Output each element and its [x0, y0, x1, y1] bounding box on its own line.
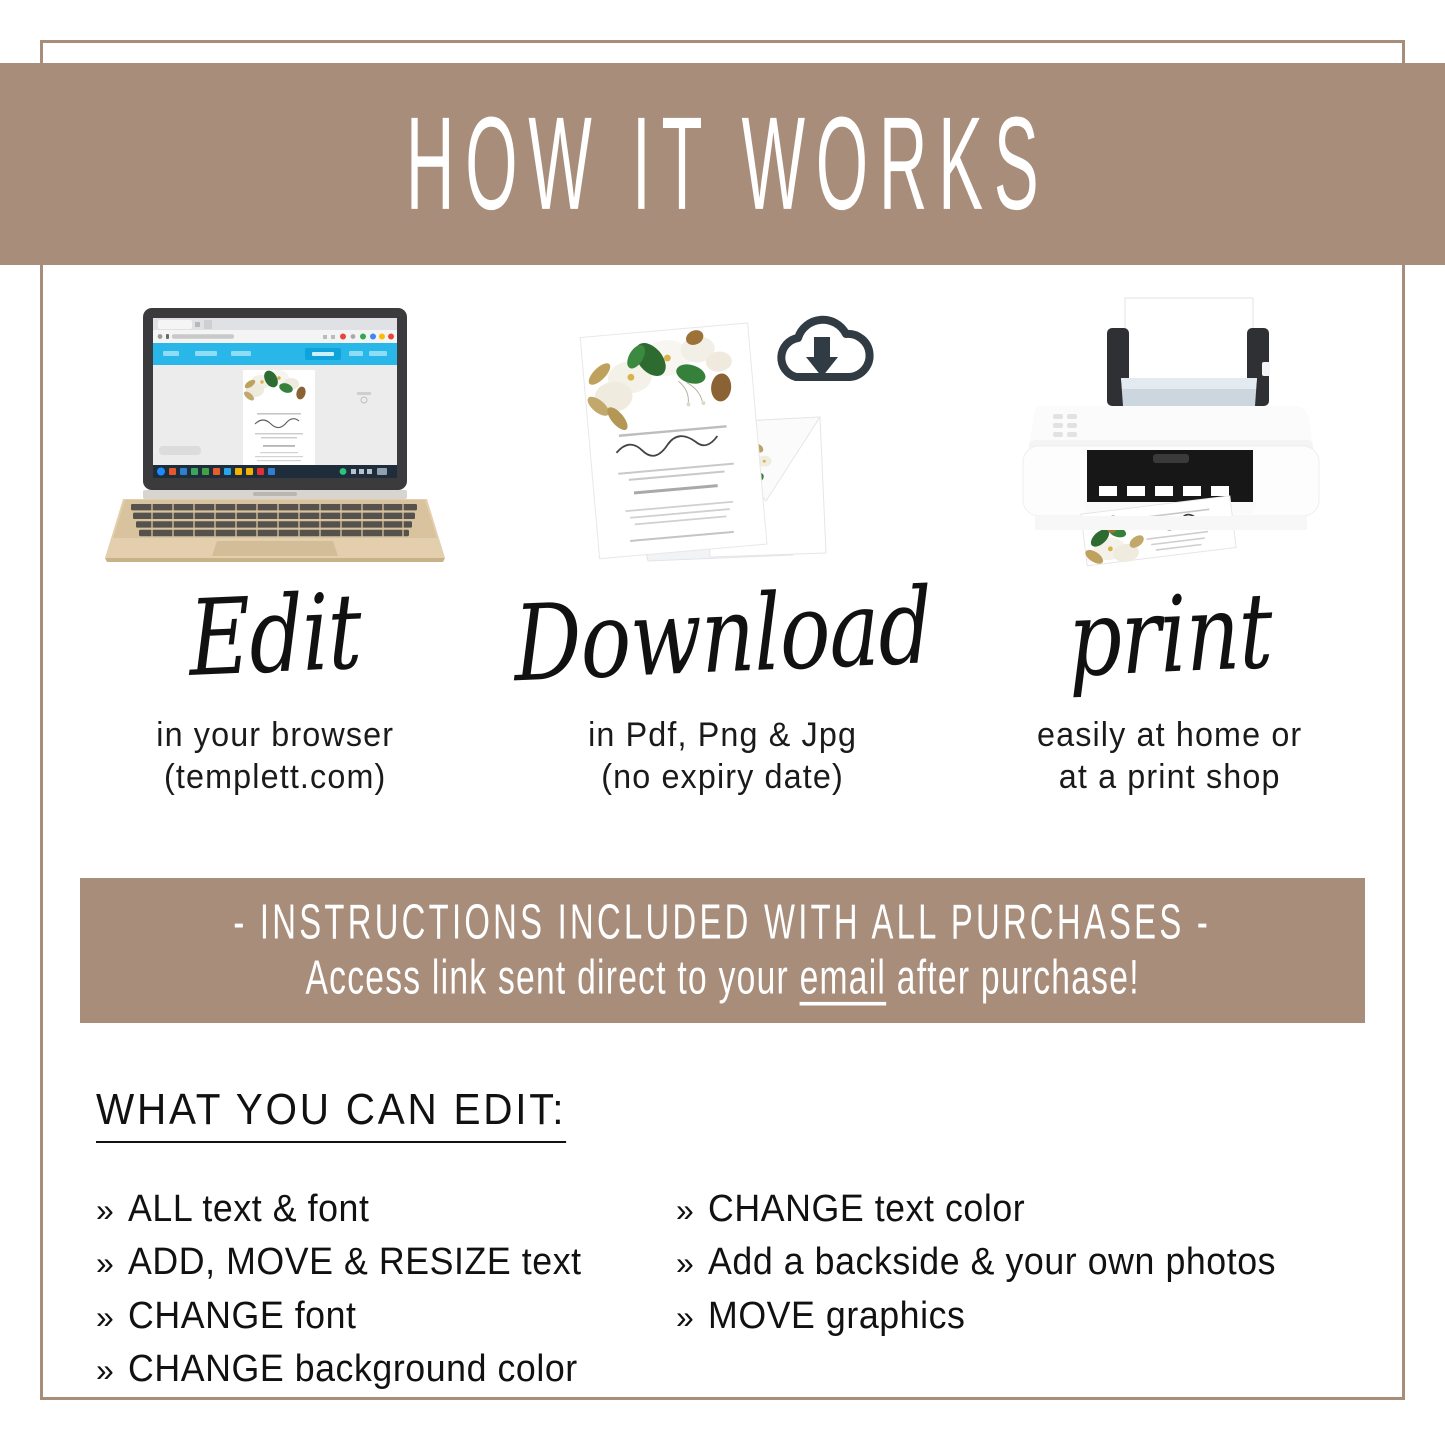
list-item: » MOVE graphics — [676, 1296, 1386, 1336]
email-emphasis: email — [799, 951, 886, 1004]
step-edit: Edit in your browser (templett.com) — [60, 280, 490, 798]
step-download: Download in Pdf, Png & Jpg (no expiry da… — [508, 280, 938, 798]
printer-illustration — [995, 290, 1345, 570]
instructions-banner: - INSTRUCTIONS INCLUDED WITH ALL PURCHAS… — [80, 878, 1365, 1023]
list-item-label: CHANGE text color — [708, 1189, 1025, 1229]
list-item-label: CHANGE background color — [128, 1349, 578, 1389]
header-banner: HOW IT WORKS — [0, 63, 1445, 265]
instructions-subline: Access link sent direct to your email af… — [305, 951, 1139, 1005]
step-caption: in Pdf, Png & Jpg (no expiry date) — [588, 714, 857, 798]
bullet-icon: » — [676, 1194, 694, 1228]
bullet-icon: » — [96, 1247, 114, 1281]
list-item-label: Add a backside & your own photos — [708, 1242, 1276, 1282]
edit-columns: » ALL text & font » ADD, MOVE & RESIZE t… — [96, 1189, 1386, 1402]
list-item-label: ADD, MOVE & RESIZE text — [128, 1242, 582, 1282]
bullet-icon: » — [96, 1354, 114, 1388]
step-caption: in your browser (templett.com) — [156, 714, 394, 798]
steps-row: Edit in your browser (templett.com) — [60, 280, 1385, 798]
list-item: » ALL text & font — [96, 1189, 676, 1229]
what-you-can-edit-section: WHAT YOU CAN EDIT: » ALL text & font » A… — [96, 1085, 1386, 1402]
inkjet-printer-printing-invitation-image — [955, 280, 1385, 570]
instructions-subline-before: Access link sent direct to your — [305, 951, 799, 1004]
instructions-headline: - INSTRUCTIONS INCLUDED WITH ALL PURCHAS… — [234, 896, 1212, 951]
list-item: » CHANGE background color — [96, 1349, 676, 1389]
step-script-label: Download — [512, 545, 934, 726]
list-item: » CHANGE text color — [676, 1189, 1386, 1229]
step-caption-line1: in your browser — [156, 714, 394, 756]
step-caption-line2: at a print shop — [1037, 756, 1302, 798]
bullet-icon: » — [676, 1247, 694, 1281]
step-caption: easily at home or at a print shop — [1037, 714, 1302, 798]
download-illustration — [558, 295, 888, 570]
laptop-browser-invitation-image — [60, 280, 490, 570]
list-item: » Add a backside & your own photos — [676, 1242, 1386, 1282]
step-caption-line1: easily at home or — [1037, 714, 1302, 756]
step-caption-line1: in Pdf, Png & Jpg — [588, 714, 857, 756]
list-item-label: CHANGE font — [128, 1296, 357, 1336]
instructions-subline-after: after purchase! — [886, 951, 1140, 1004]
step-script-label: print — [1066, 549, 1274, 720]
edit-list-right: » CHANGE text color » Add a backside & y… — [676, 1189, 1386, 1402]
edit-section-heading: WHAT YOU CAN EDIT: — [96, 1085, 566, 1143]
bullet-icon: » — [96, 1194, 114, 1228]
list-item: » ADD, MOVE & RESIZE text — [96, 1242, 676, 1282]
list-item: » CHANGE font — [96, 1296, 676, 1336]
edit-list-left: » ALL text & font » ADD, MOVE & RESIZE t… — [96, 1189, 676, 1402]
list-item-label: ALL text & font — [128, 1189, 369, 1229]
step-caption-line2: (no expiry date) — [588, 756, 857, 798]
list-item-label: MOVE graphics — [708, 1296, 965, 1336]
step-script-label: Edit — [187, 550, 363, 720]
page-title: HOW IT WORKS — [395, 98, 1049, 230]
bullet-icon: » — [96, 1301, 114, 1335]
bullet-icon: » — [676, 1301, 694, 1335]
step-caption-line2: (templett.com) — [156, 756, 394, 798]
laptop-illustration — [105, 300, 445, 570]
invitation-envelope-cloud-download-image — [508, 280, 938, 570]
step-print: print easily at home or at a print shop — [955, 280, 1385, 798]
